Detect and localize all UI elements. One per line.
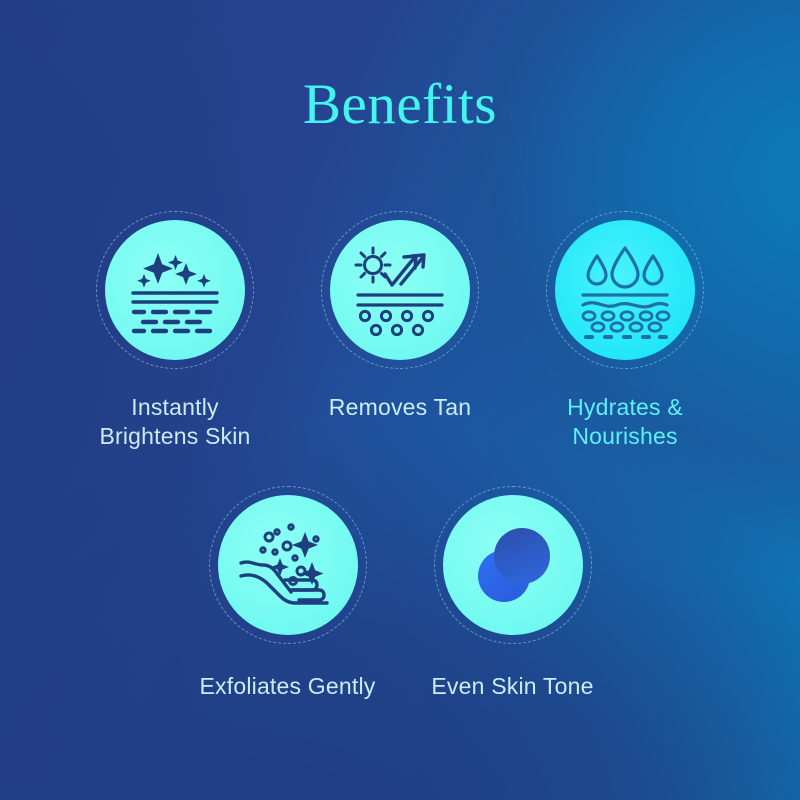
benefit-item-hydrates-and-nourishes[interactable]: Hydrates & Nourishes	[513, 205, 738, 451]
benefit-label-line1: Hydrates &	[567, 393, 683, 422]
benefit-badge	[203, 480, 373, 650]
benefit-item-instantly-brightens-skin[interactable]: Instantly Brightens Skin	[63, 205, 288, 451]
sparkle-skin-layers-icon	[120, 235, 230, 345]
overlapping-discs-tone-icon	[458, 510, 568, 620]
benefit-badge	[428, 480, 598, 650]
page-title: Benefits	[0, 74, 800, 136]
water-droplets-skin-icon	[570, 235, 680, 345]
benefit-label-line1: Exfoliates Gently	[200, 672, 376, 701]
benefit-label: Removes Tan	[329, 393, 471, 422]
benefit-label-line1: Instantly	[99, 393, 250, 422]
benefits-row-bottom: Exfoliates Gently	[0, 480, 800, 701]
benefit-label-line2: Brightens Skin	[99, 422, 250, 451]
benefits-row-top: Instantly Brightens Skin	[0, 205, 800, 451]
benefit-label-line1: Even Skin Tone	[431, 672, 593, 701]
benefit-label: Hydrates & Nourishes	[567, 393, 683, 451]
benefits-poster: Benefits	[0, 0, 800, 800]
benefit-label-line2: Nourishes	[567, 422, 683, 451]
benefit-label: Instantly Brightens Skin	[99, 393, 250, 451]
benefit-item-removes-tan[interactable]: Removes Tan	[288, 205, 513, 451]
benefit-badge	[90, 205, 260, 375]
hand-scrub-sparkles-icon	[233, 510, 343, 620]
benefit-item-even-skin-tone[interactable]: Even Skin Tone	[400, 480, 625, 701]
benefit-label: Even Skin Tone	[431, 672, 593, 701]
sun-arrow-skin-icon	[345, 235, 455, 345]
benefit-badge	[540, 205, 710, 375]
benefit-label-line1: Removes Tan	[329, 393, 471, 422]
benefit-badge	[315, 205, 485, 375]
benefit-label: Exfoliates Gently	[200, 672, 376, 701]
benefit-item-exfoliates-gently[interactable]: Exfoliates Gently	[175, 480, 400, 701]
